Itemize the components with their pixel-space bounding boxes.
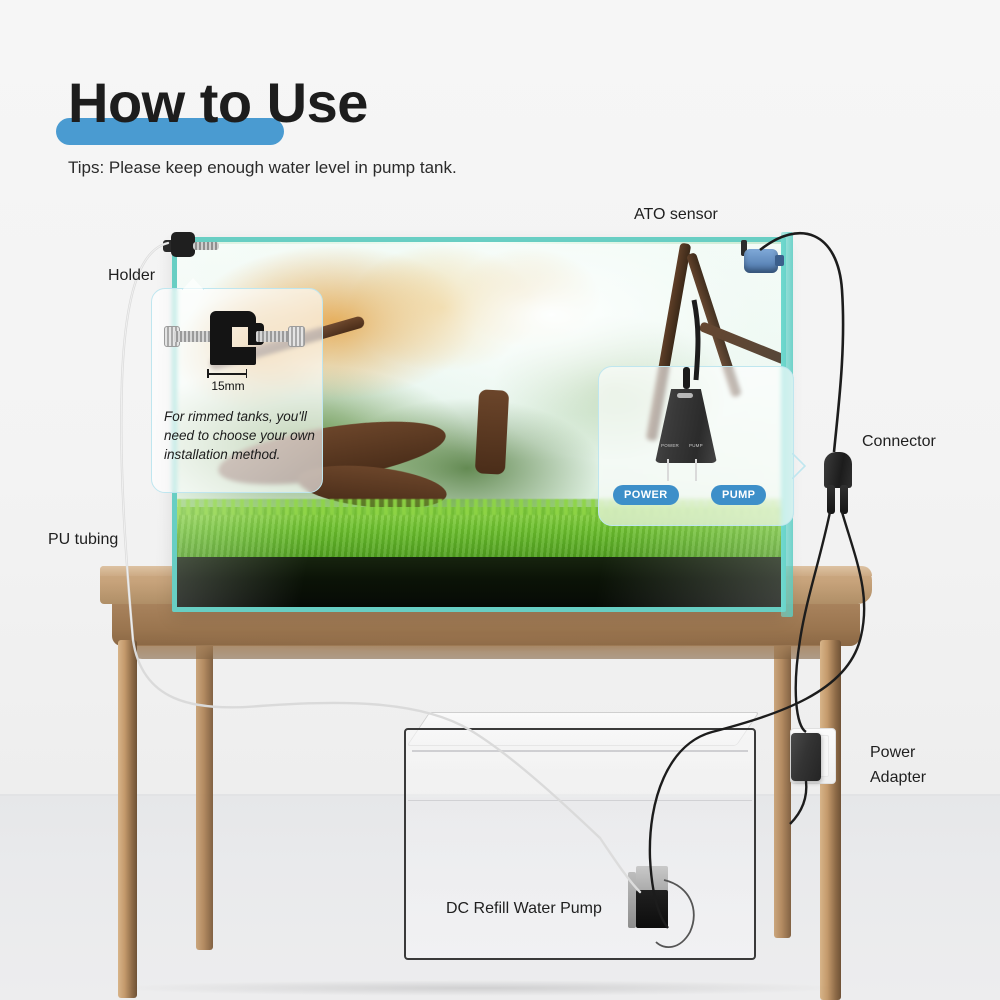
controller-shell [655, 389, 717, 463]
controller-cord [683, 367, 690, 389]
driftwood-stump [475, 389, 509, 474]
dc-refill-water-pump [636, 866, 668, 928]
controller-illustration: POWER PUMP [655, 381, 717, 463]
pump-base [636, 890, 668, 928]
holder-detail-callout: 15mm For rimmed tanks, you'll need to ch… [151, 288, 323, 493]
controller-highlight [677, 393, 693, 398]
clamp-knob-right [288, 326, 305, 347]
label-holder: Holder [108, 267, 155, 285]
substrate-soil [177, 557, 781, 607]
dimension-arrow-icon [207, 373, 247, 375]
water-surface-line [172, 239, 786, 244]
holder-note-text: For rimmed tanks, you'll need to choose … [164, 407, 316, 464]
how-to-use-infographic: How to Use Tips: Please keep enough wate… [0, 0, 1000, 1000]
power-adapter-brick [791, 733, 821, 781]
port-badge-power: POWER [613, 485, 679, 505]
holder-clamp-device [163, 232, 219, 258]
clamp-rod-right [256, 331, 292, 342]
table-leg-front-right [820, 640, 841, 1000]
port-lead-pump [695, 459, 697, 481]
table-brace [128, 645, 834, 659]
page-title: How to Use [68, 72, 368, 134]
label-power-adapter-line1: Power [870, 744, 915, 762]
clamp-illustration [164, 307, 314, 369]
holder-screw [193, 242, 219, 250]
reservoir-body [404, 728, 756, 960]
reservoir-back-edge [412, 750, 748, 752]
connector-pin-b [840, 485, 848, 514]
table-floor-shadow [110, 980, 850, 996]
label-connector: Connector [862, 433, 936, 451]
pump-intake [628, 872, 636, 928]
pump-reservoir-tank: DC Refill Water Pump [404, 728, 756, 960]
controller-detail-callout: POWER PUMP POWER PUMP [598, 366, 794, 526]
connector-head [824, 452, 852, 488]
pump-label: DC Refill Water Pump [446, 900, 602, 918]
port-micro-label-pump: PUMP [689, 443, 703, 448]
table-leg-front-left [118, 640, 137, 998]
connector-plug [824, 452, 852, 514]
ato-sensor-device [744, 249, 778, 273]
port-micro-label-power: POWER [661, 443, 679, 448]
table-leg-back-right [774, 638, 791, 938]
port-lead-power [667, 459, 669, 481]
reservoir-water-line [408, 800, 752, 801]
holder-body [171, 232, 195, 257]
label-power-adapter-line2: Adapter [870, 769, 926, 787]
label-pu-tubing: PU tubing [48, 531, 118, 549]
tips-text: Tips: Please keep enough water level in … [68, 158, 457, 178]
label-ato-sensor: ATO sensor [634, 206, 718, 224]
dimension-label: 15mm [195, 379, 261, 393]
pump-cap [636, 866, 668, 892]
port-badge-pump: PUMP [711, 485, 766, 505]
table-leg-back-left [196, 638, 213, 950]
page-title-group: How to Use [68, 72, 368, 134]
callout-pointer-right-icon [792, 453, 806, 479]
connector-pin-a [827, 485, 835, 514]
